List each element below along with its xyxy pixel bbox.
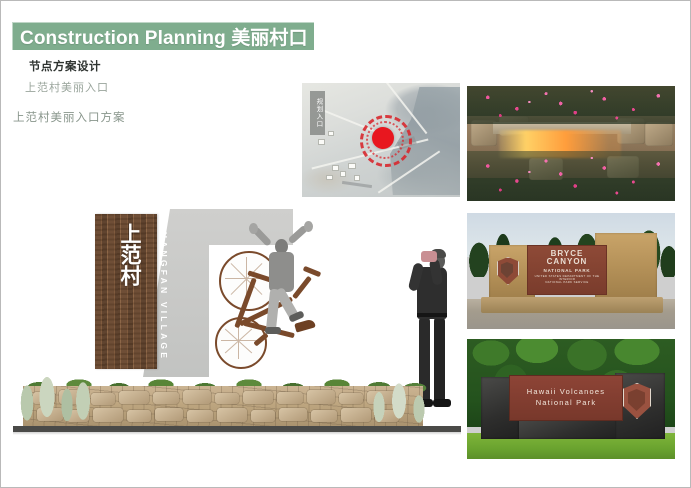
camera-icon (421, 251, 437, 262)
hawaii-line-2: National Park (510, 397, 622, 408)
ornamental-grass-right (367, 367, 437, 429)
page-title-bar: Construction Planning 美丽村口 (12, 22, 314, 50)
wall-stone (277, 392, 303, 404)
bryce-sign-text: BRYCE CANYON NATIONAL PARK UNITED STATES… (528, 250, 606, 284)
map-label-badge: 规划入口 (310, 91, 325, 135)
wall-stone (127, 410, 151, 422)
wall-stone (339, 393, 363, 404)
bryce-line-5: NATIONAL PARK SERVICE (528, 281, 606, 284)
entrance-design-rendering: 上范村 SHANGFAN VILLAGE (13, 201, 461, 451)
hawaii-line-1: Hawaii Volcanoes (510, 386, 622, 397)
ornamental-grass-left (13, 361, 97, 427)
map-building (348, 163, 356, 169)
map-building (354, 175, 360, 181)
figure-torso (269, 252, 294, 292)
map-building (326, 175, 333, 180)
wall-stone (183, 390, 211, 404)
bryce-sign-panel: BRYCE CANYON NATIONAL PARK UNITED STATES… (527, 245, 607, 295)
subtitle-scheme: 上范村美丽入口方案 (13, 109, 126, 125)
flower-bed-top (467, 86, 675, 124)
wall-stone (251, 410, 275, 422)
reference-photo-hawaii-volcanoes: Hawaii Volcanoes National Park (467, 339, 675, 459)
bryce-line-2: CANYON (528, 258, 606, 266)
village-name-chinese: 上范村 (109, 223, 143, 286)
reference-photo-stone-wall-flowers (467, 86, 675, 201)
wall-stone (187, 410, 213, 422)
nps-arrowhead-inner (628, 389, 645, 411)
village-name-english: SHANGFAN VILLAGE (159, 223, 169, 361)
wall-stone (217, 408, 247, 422)
sign-stone-base (481, 297, 663, 313)
sign-lava-rock-base (513, 419, 619, 439)
map-building (318, 139, 325, 145)
subtitle-project: 上范村美丽入口 (25, 79, 109, 95)
reference-photo-bryce-canyon: BRYCE CANYON NATIONAL PARK UNITED STATES… (467, 213, 675, 329)
site-location-map: 规划入口 (302, 83, 460, 197)
figure-hand-left (249, 223, 258, 234)
wall-stone (311, 410, 337, 422)
figure-jumping-person (249, 217, 315, 345)
flower-bed-bottom (467, 151, 675, 201)
page-title: Construction Planning 美丽村口 (12, 23, 308, 50)
wall-stone (243, 391, 273, 404)
map-label-text: 规划入口 (314, 98, 321, 128)
figure-shoe-left (265, 327, 281, 334)
wall-stone (307, 390, 335, 404)
bryce-line-3: NATIONAL PARK (528, 269, 606, 274)
wall-stone (153, 392, 179, 404)
map-building (332, 165, 339, 171)
wall-stone (279, 408, 307, 421)
wall-stone (155, 408, 183, 421)
nps-arrowhead-inner (501, 262, 513, 278)
hawaii-sign-panel: Hawaii Volcanoes National Park (509, 375, 623, 421)
ground-shadow (13, 432, 461, 435)
hawaii-sign-text: Hawaii Volcanoes National Park (510, 386, 622, 409)
figure-belt (417, 313, 447, 317)
map-building (328, 131, 334, 136)
figure-hand-right (304, 221, 313, 232)
wall-stone (119, 391, 149, 404)
wall-stone (645, 122, 673, 146)
slide-page: Construction Planning 美丽村口 节点方案设计 上范村美丽入… (0, 0, 691, 488)
subtitle-section: 节点方案设计 (29, 58, 101, 74)
map-location-marker (372, 127, 394, 149)
wall-stone (93, 408, 123, 422)
map-building (340, 171, 346, 177)
wall-stone (215, 393, 239, 404)
